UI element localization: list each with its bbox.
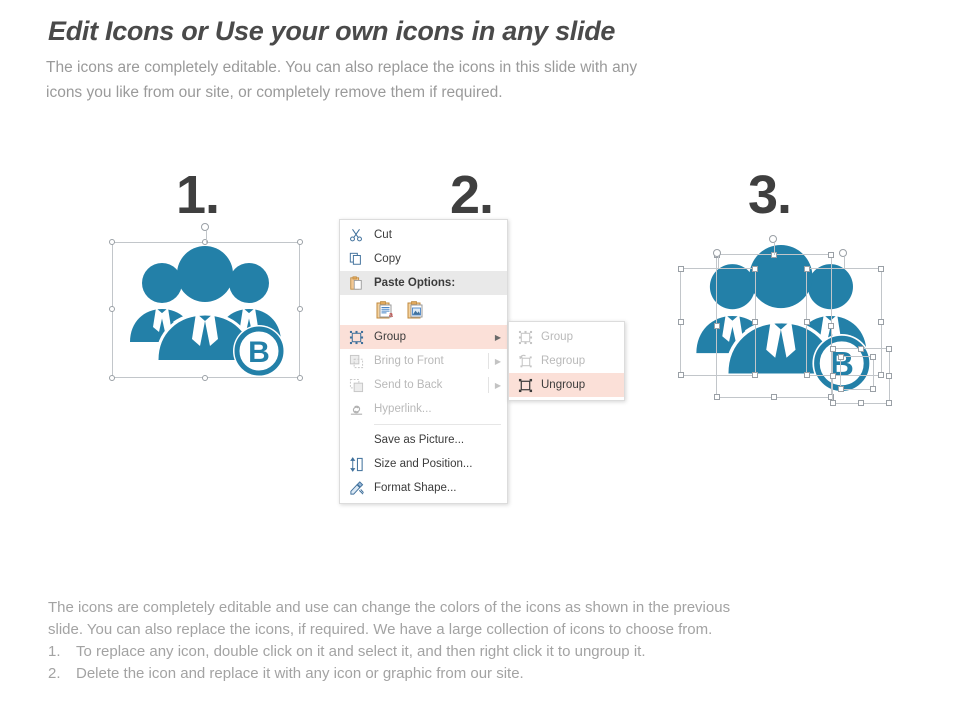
- footer-line-1: The icons are completely editable and us…: [48, 597, 938, 619]
- group-submenu[interactable]: Group Regroup: [508, 321, 625, 401]
- selection-handle-bc[interactable]: [202, 375, 208, 381]
- selection-handle-br[interactable]: [297, 375, 303, 381]
- clipboard-icon: [347, 274, 365, 292]
- rotation-stem: [206, 231, 207, 243]
- menu-item-label: Bring to Front: [374, 355, 487, 367]
- context-menu[interactable]: Cut Copy Paste Options:: [339, 219, 508, 504]
- submenu-item-group[interactable]: Group: [509, 325, 624, 349]
- selection-handle-tr[interactable]: [878, 266, 884, 272]
- selection-handle-tc[interactable]: [858, 346, 864, 352]
- selection-handle-bl[interactable]: [678, 372, 684, 378]
- format-shape-icon: [347, 479, 365, 497]
- selection-handle-mr[interactable]: [297, 306, 303, 312]
- rotation-handle[interactable]: [839, 249, 847, 257]
- step-number-2: 2.: [450, 168, 493, 222]
- step3-subselect-badge-inner[interactable]: [840, 356, 874, 390]
- selection-handle-ml[interactable]: [678, 319, 684, 325]
- menu-item-save-as-picture[interactable]: Save as Picture...: [340, 428, 507, 452]
- selection-handle-bc[interactable]: [858, 400, 864, 406]
- selection-handle-tc[interactable]: [202, 239, 208, 245]
- selection-handle-tl[interactable]: [109, 239, 115, 245]
- svg-text:a: a: [389, 312, 393, 319]
- selection-handle-tr[interactable]: [886, 346, 892, 352]
- subtitle-line-2: icons you like from our site, or complet…: [46, 80, 876, 105]
- step-number-1: 1.: [176, 168, 219, 222]
- menu-item-group[interactable]: Group ▶: [340, 325, 507, 349]
- menu-divider: [488, 353, 489, 369]
- menu-item-label: Send to Back: [374, 379, 487, 391]
- selection-handle-br[interactable]: [886, 400, 892, 406]
- menu-item-cut[interactable]: Cut: [340, 223, 507, 247]
- selection-handle-bc[interactable]: [771, 394, 777, 400]
- menu-item-label: Save as Picture...: [374, 434, 501, 446]
- selection-handle-br[interactable]: [752, 372, 758, 378]
- selection-handle-tr[interactable]: [297, 239, 303, 245]
- rotation-handle[interactable]: [201, 223, 209, 231]
- regroup-icon: [516, 352, 534, 370]
- step-number-3: 3.: [748, 168, 791, 222]
- selection-handle-ml[interactable]: [830, 373, 836, 379]
- group-icon: [516, 328, 534, 346]
- rotation-handle[interactable]: [713, 249, 721, 257]
- copy-icon: [347, 250, 365, 268]
- list-item-number: 1.: [48, 641, 64, 663]
- selection-handle-mr[interactable]: [878, 319, 884, 325]
- selection-handle-tr[interactable]: [752, 266, 758, 272]
- selection-handle-tl[interactable]: [838, 354, 844, 360]
- menu-item-label: Copy: [374, 253, 501, 265]
- group-icon: [347, 328, 365, 346]
- selection-handle-br[interactable]: [870, 386, 876, 392]
- footer-line-2: slide. You can also replace the icons, i…: [48, 619, 938, 641]
- list-item-text: Delete the icon and replace it with any …: [76, 663, 524, 685]
- menu-separator: [374, 424, 501, 425]
- slide-canvas: Edit Icons or Use your own icons in any …: [0, 0, 960, 720]
- chevron-right-icon: ▶: [487, 333, 501, 342]
- rotation-stem: [718, 257, 719, 269]
- menu-item-label: Cut: [374, 229, 501, 241]
- menu-item-hyperlink[interactable]: Hyperlink...: [340, 397, 507, 421]
- selection-handle-bl[interactable]: [804, 372, 810, 378]
- selection-handle-tl[interactable]: [830, 346, 836, 352]
- menu-item-paste-options: Paste Options:: [340, 271, 507, 295]
- size-position-icon: [347, 455, 365, 473]
- menu-item-label: Hyperlink...: [374, 403, 501, 415]
- rotation-handle[interactable]: [769, 235, 777, 243]
- list-item-number: 2.: [48, 663, 64, 685]
- scissors-icon: [347, 226, 365, 244]
- selection-handle-tr[interactable]: [828, 252, 834, 258]
- selection-handle-ml[interactable]: [804, 319, 810, 325]
- menu-item-size-and-position[interactable]: Size and Position...: [340, 452, 507, 476]
- list-item-text: To replace any icon, double click on it …: [76, 641, 646, 663]
- rotation-stem: [774, 243, 775, 255]
- selection-handle-tr[interactable]: [870, 354, 876, 360]
- submenu-item-ungroup[interactable]: Ungroup: [509, 373, 624, 397]
- page-title: Edit Icons or Use your own icons in any …: [48, 16, 928, 47]
- hyperlink-icon: [347, 400, 365, 418]
- selection-handle-bl[interactable]: [109, 375, 115, 381]
- paste-options-row[interactable]: a: [340, 295, 507, 325]
- selection-handle-mr[interactable]: [752, 319, 758, 325]
- footer-list: 1. To replace any icon, double click on …: [48, 641, 938, 685]
- picture-paste-option[interactable]: [405, 299, 427, 321]
- menu-item-format-shape[interactable]: Format Shape...: [340, 476, 507, 500]
- keep-source-formatting-paste-option[interactable]: a: [374, 299, 396, 321]
- selection-handle-mr[interactable]: [886, 373, 892, 379]
- menu-item-bring-to-front[interactable]: Bring to Front ▶: [340, 349, 507, 373]
- step3-subselect-left[interactable]: [680, 268, 756, 376]
- selection-handle-bl[interactable]: [830, 400, 836, 406]
- send-to-back-icon: [347, 376, 365, 394]
- menu-item-label: Format Shape...: [374, 482, 501, 494]
- list-item: 1. To replace any icon, double click on …: [48, 641, 938, 663]
- menu-divider: [488, 377, 489, 393]
- menu-item-label: Paste Options:: [374, 277, 501, 289]
- submenu-item-label: Regroup: [541, 355, 618, 367]
- selection-handle-tl[interactable]: [804, 266, 810, 272]
- selection-handle-bl[interactable]: [838, 386, 844, 392]
- menu-item-label: Group: [374, 331, 487, 343]
- list-item: 2. Delete the icon and replace it with a…: [48, 663, 938, 685]
- selection-handle-bl[interactable]: [714, 394, 720, 400]
- bring-to-front-icon: [347, 352, 365, 370]
- menu-item-send-to-back[interactable]: Send to Back ▶: [340, 373, 507, 397]
- ungroup-icon: [516, 376, 534, 394]
- menu-item-label: Size and Position...: [374, 458, 501, 470]
- submenu-item-regroup[interactable]: Regroup: [509, 349, 624, 373]
- selection-handle-ml[interactable]: [109, 306, 115, 312]
- submenu-item-label: Ungroup: [541, 379, 618, 391]
- rotation-stem: [844, 257, 845, 269]
- menu-item-copy[interactable]: Copy: [340, 247, 507, 271]
- footer-notes: The icons are completely editable and us…: [48, 597, 938, 685]
- selection-handle-tl[interactable]: [678, 266, 684, 272]
- page-subtitle: The icons are completely editable. You c…: [46, 55, 876, 105]
- submenu-item-label: Group: [541, 331, 618, 343]
- subtitle-line-1: The icons are completely editable. You c…: [46, 55, 876, 80]
- step1-selection-frame[interactable]: [112, 242, 300, 378]
